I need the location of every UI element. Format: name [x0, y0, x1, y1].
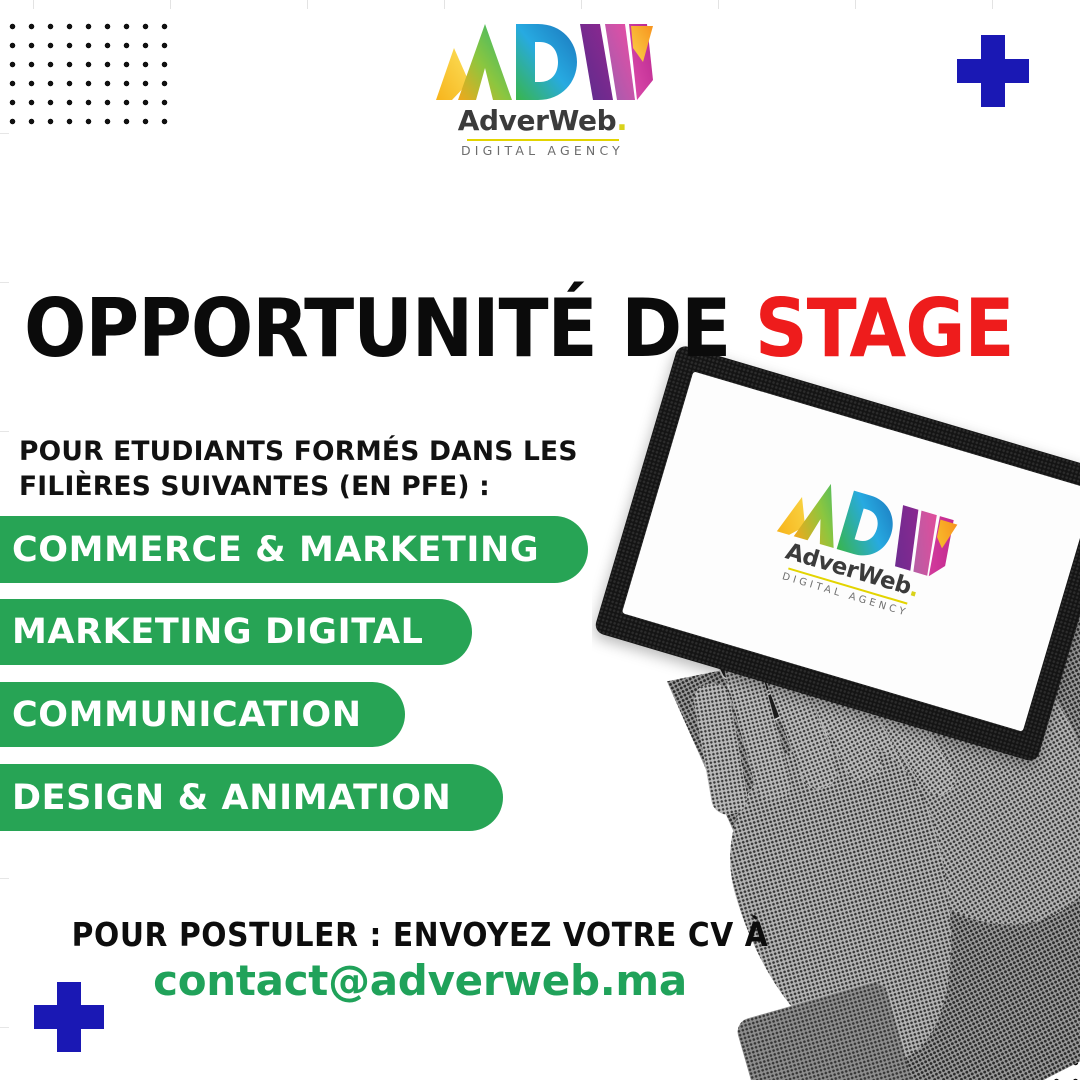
field-pill: DESIGN & ANIMATION	[0, 764, 503, 831]
brand-logo: AdverWeb. DIGITAL AGENCY	[430, 22, 655, 167]
dot-grid-icon	[0, 14, 172, 130]
screen-brand-lockup: AdverWeb. DIGITAL AGENCY	[740, 464, 977, 631]
brand-tagline: DIGITAL AGENCY	[430, 145, 655, 158]
field-pill: COMMERCE & MARKETING	[0, 516, 588, 583]
contact-email[interactable]: contact@adverweb.ma	[0, 956, 840, 1005]
intro-line-1: POUR ETUDIANTS FORMÉS DANS LES	[19, 434, 578, 469]
laptop-lid: AdverWeb. DIGITAL AGENCY	[593, 344, 1080, 763]
page-title: OPPORTUNITÉ DE STAGE	[24, 291, 1014, 368]
field-pill-label: MARKETING DIGITAL	[12, 612, 424, 652]
field-pill: COMMUNICATION	[0, 682, 405, 747]
brand-underline	[467, 139, 619, 141]
headline-accent: STAGE	[755, 282, 1014, 375]
stage-opportunity-poster: AdverWeb. DIGITAL AGENCY	[0, 0, 1080, 1080]
field-pill-label: DESIGN & ANIMATION	[12, 778, 451, 818]
plus-cross-icon	[957, 35, 1029, 107]
apply-instruction: POUR POSTULER : ENVOYEZ VOTRE CV À	[0, 915, 840, 954]
headline-main: OPPORTUNITÉ DE	[24, 282, 755, 375]
intro-line-2: FILIÈRES SUIVANTES (EN PFE) :	[19, 469, 578, 504]
intro-text: POUR ETUDIANTS FORMÉS DANS LES FILIÈRES …	[19, 434, 578, 504]
adw-logo-icon	[430, 22, 655, 104]
field-pill-label: COMMERCE & MARKETING	[12, 530, 539, 570]
field-pill-label: COMMUNICATION	[12, 695, 362, 735]
field-pill: MARKETING DIGITAL	[0, 599, 472, 665]
brand-wordmark: AdverWeb.	[430, 106, 655, 136]
